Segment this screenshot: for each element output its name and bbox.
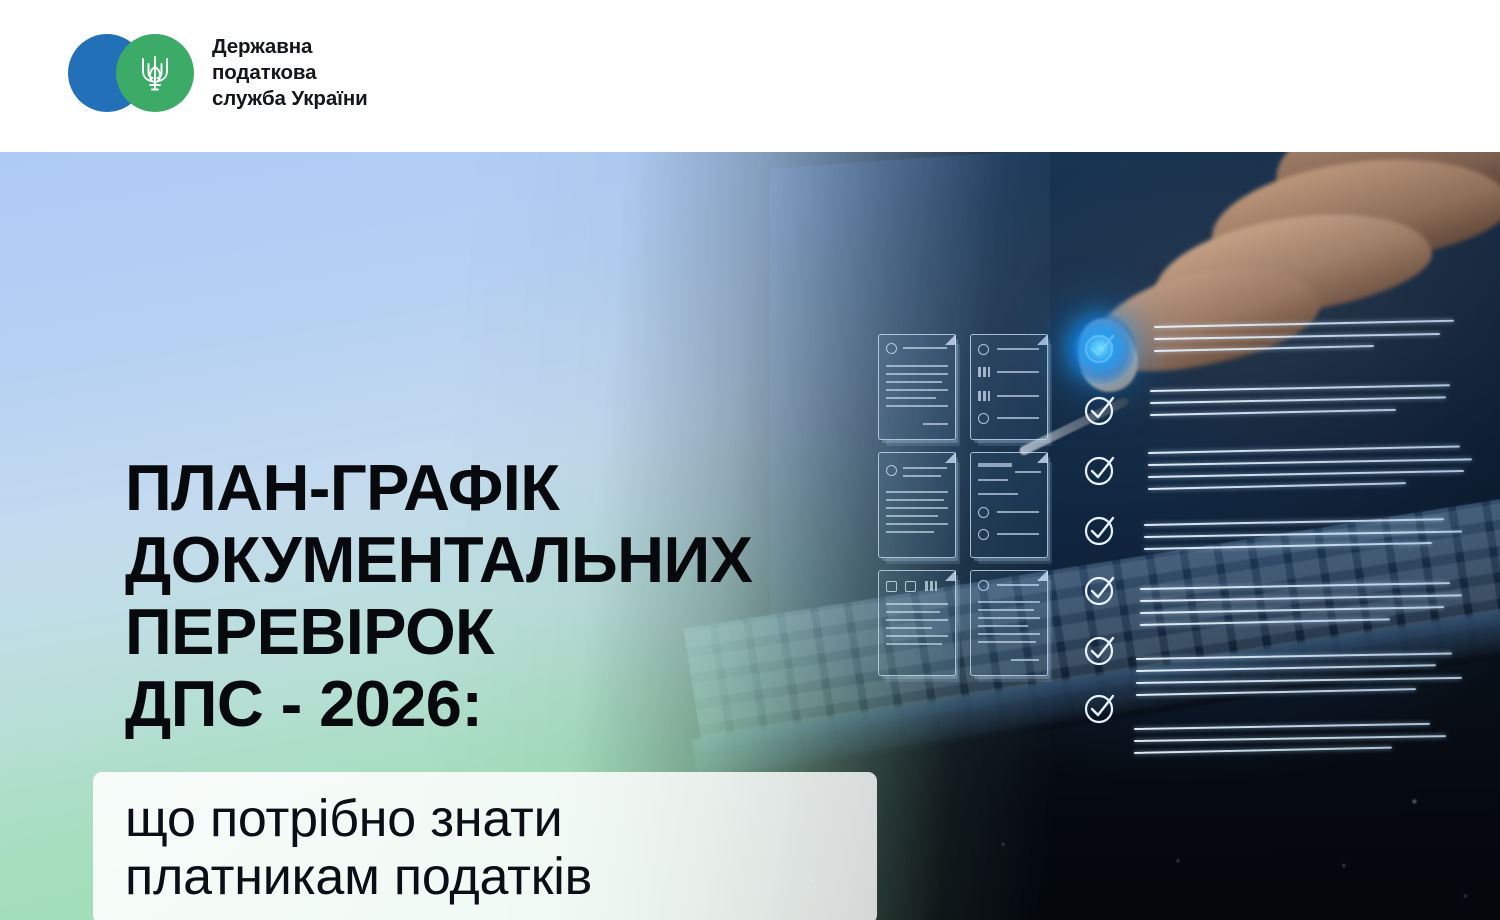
agency-logo-text: Державна податкова служба України [212,34,368,113]
subtitle-line-1: що потрібно знати [125,790,877,848]
subtitle-card: що потрібно знати платникам податків [93,772,877,920]
logo-circles [68,34,194,112]
poster-canvas: Державна податкова служба України [0,0,1500,920]
hand-icon [1060,152,1500,452]
headline-line-1: ПЛАН-ГРАФІК [125,452,752,524]
ukraine-trident-icon [137,51,173,95]
hero-stage: ПЛАН-ГРАФІК ДОКУМЕНТАЛЬНИХ ПЕРЕВІРОК ДПС… [0,152,1500,920]
page-title: ПЛАН-ГРАФІК ДОКУМЕНТАЛЬНИХ ПЕРЕВІРОК ДПС… [125,452,752,740]
agency-logo[interactable]: Державна податкова служба України [68,34,368,113]
subtitle-line-2: платникам податків [125,848,877,906]
agency-logo-text-line-3: служба України [212,86,368,112]
headline-line-4: ДПС - 2026: [125,668,752,740]
header-band: Державна податкова служба України [0,0,1500,152]
headline-line-2: ДОКУМЕНТАЛЬНИХ [125,524,752,596]
agency-logo-text-line-2: податкова [212,60,368,86]
headline-line-3: ПЕРЕВІРОК [125,596,752,668]
agency-logo-text-line-1: Державна [212,34,368,60]
logo-circle-green-icon [116,34,194,112]
